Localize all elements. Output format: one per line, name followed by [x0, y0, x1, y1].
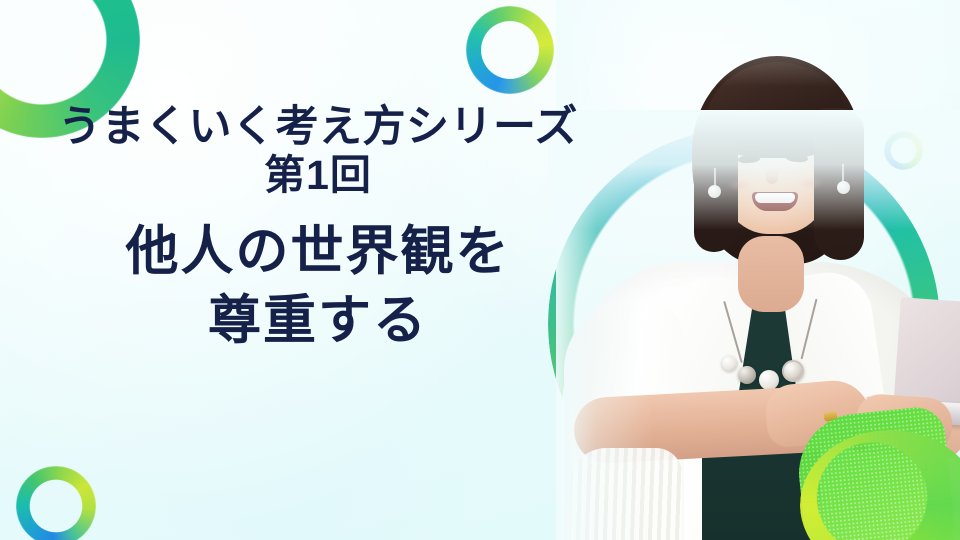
main-heading-line-1: 他人の世界観を [0, 218, 636, 287]
jacket-cuff [570, 448, 682, 540]
cheek-right [798, 176, 824, 190]
decorative-ring-top-center [466, 6, 554, 94]
necklace-bead [722, 356, 737, 371]
main-heading: 他人の世界観を 尊重する [0, 218, 636, 356]
series-title: うまくいく考え方シリーズ [0, 104, 636, 150]
necklace-bead [738, 366, 756, 384]
necklace-bead [782, 360, 804, 382]
teeth [755, 193, 795, 203]
earring-left-drop [708, 185, 721, 198]
earring-left-wire [714, 168, 716, 186]
slide-canvas: うまくいく考え方シリーズ 第1回 他人の世界観を 尊重する [0, 0, 960, 540]
title-text-block: うまくいく考え方シリーズ 第1回 他人の世界観を 尊重する [0, 104, 636, 356]
nose [766, 168, 778, 184]
cheek-left [726, 178, 752, 192]
episode-label: 第1回 [0, 150, 636, 200]
decorative-ring-bottom-left [16, 466, 96, 540]
earring-right-wire [842, 164, 844, 182]
necklace-bead [759, 370, 779, 390]
neck [738, 236, 804, 312]
main-heading-line-2: 尊重する [0, 287, 636, 356]
earring-right-drop [837, 181, 850, 194]
